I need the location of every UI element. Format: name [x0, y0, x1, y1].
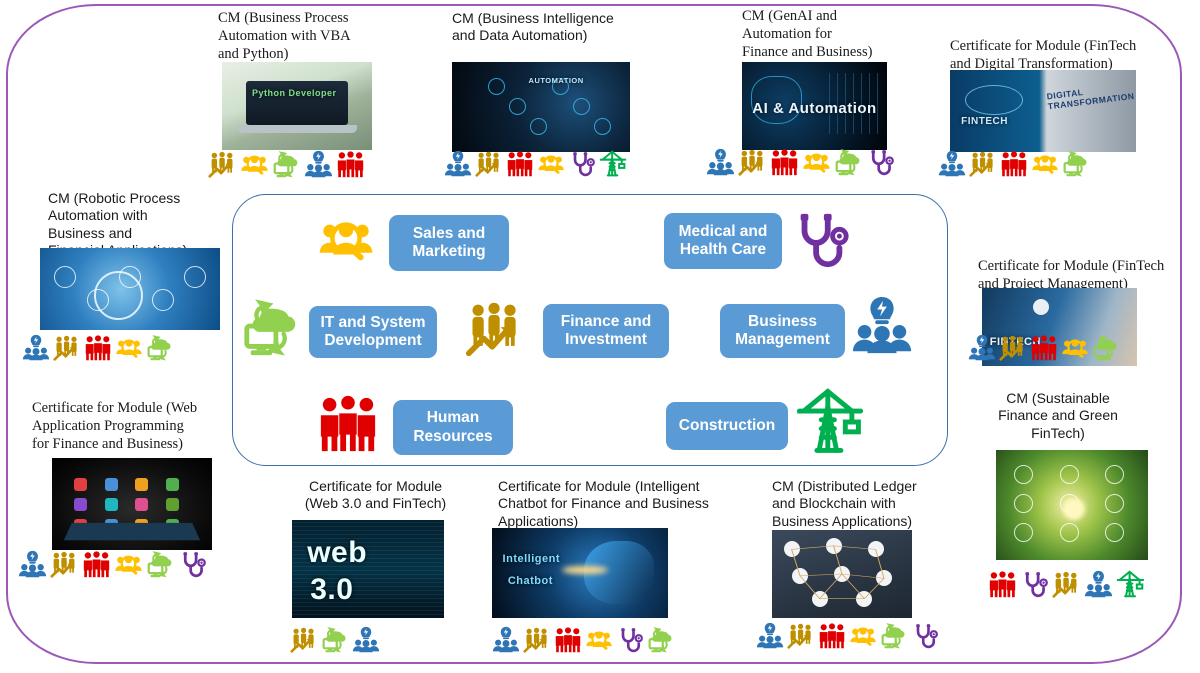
module-title-business-intelligence: CM (Business Intelligence and Data Autom…: [452, 10, 642, 45]
module-thumbnail-web-application-programming: [52, 458, 212, 550]
module-domain-icons-intelligent-chatbot: [492, 626, 675, 654]
module-title-intelligent-chatbot: Certificate for Module (Intelligent Chat…: [498, 478, 718, 530]
stethoscope-icon: [866, 148, 895, 177]
cloud-computer-icon: [834, 148, 863, 177]
module-domain-icons-sustainable-finance-green-fintech: [988, 570, 1145, 599]
business-management-icon: [18, 550, 47, 579]
human-resources-icon: [84, 334, 112, 362]
module-thumbnail-distributed-ledger-blockchain: [772, 530, 912, 618]
module-domain-icons-web3-fintech: [290, 626, 380, 654]
cloud-computer-icon: [1092, 334, 1120, 362]
cloud-computer-icon: [647, 626, 675, 654]
finance-growth-icon: [787, 622, 815, 650]
finance-growth-icon: [1052, 570, 1081, 599]
module-domain-icons-distributed-ledger-blockchain: [756, 622, 939, 650]
domain-pill-business-management[interactable]: Business Management: [720, 304, 845, 358]
business-management-icon: [1084, 570, 1113, 599]
sales-marketing-icon: [537, 150, 565, 178]
finance-growth-icon: [208, 150, 237, 179]
business-management-icon: [492, 626, 520, 654]
human-resources-icon: [770, 148, 799, 177]
module-thumbnail-sustainable-finance-green-fintech: [996, 450, 1148, 560]
human-resources-icon: [554, 626, 582, 654]
finance-growth-icon: [523, 626, 551, 654]
finance-growth-icon: [738, 148, 767, 177]
business-management-icon: [352, 626, 380, 654]
cloud-computer-icon: [272, 150, 301, 179]
human-resources-icon: [1000, 150, 1028, 178]
domain-pill-human-resources[interactable]: Human Resources: [393, 400, 513, 455]
stethoscope-icon: [789, 209, 851, 271]
module-domain-icons-business-intelligence: [444, 150, 627, 178]
finance-growth-icon: [475, 150, 503, 178]
domain-pill-sales-marketing[interactable]: Sales and Marketing: [389, 215, 509, 271]
module-domain-icons-web-application-programming: [18, 550, 207, 579]
cloud-computer-icon: [146, 334, 174, 362]
module-thumbnail-robotic-process-automation: [40, 248, 220, 330]
business-management-icon: [756, 622, 784, 650]
module-domain-icons-robotic-process-automation: [22, 334, 174, 362]
cloud-computer-icon: [880, 622, 908, 650]
cloud-computer-icon: [321, 626, 349, 654]
business-management-icon: [938, 150, 966, 178]
module-thumbnail-business-intelligence: AUTOMATION: [452, 62, 630, 152]
business-management-icon: [304, 150, 333, 179]
center-domains-panel: Sales and Marketing Medical and Health C…: [232, 194, 948, 466]
business-management-icon: [22, 334, 50, 362]
construction-crane-icon: [795, 387, 865, 457]
domain-pill-medical-health-care[interactable]: Medical and Health Care: [664, 213, 782, 269]
business-management-icon: [851, 295, 913, 357]
finance-growth-icon: [50, 550, 79, 579]
sales-marketing-icon: [115, 334, 143, 362]
cloud-computer-icon: [146, 550, 175, 579]
sales-marketing-icon: [1031, 150, 1059, 178]
module-title-business-process-automation: CM (Business Process Automation with VBA…: [218, 10, 378, 64]
domain-pill-it-system-development[interactable]: IT and System Development: [309, 306, 437, 358]
stethoscope-icon: [616, 626, 644, 654]
module-title-fintech-digital-transformation: Certificate for Module (FinTech and Digi…: [950, 38, 1165, 74]
business-management-icon: [706, 148, 735, 177]
stethoscope-icon: [911, 622, 939, 650]
module-thumbnail-business-process-automation: Python Developer: [222, 62, 372, 150]
module-title-web3-fintech: Certificate for Module (Web 3.0 and FinT…: [288, 478, 463, 513]
human-resources-icon: [317, 393, 379, 455]
cloud-computer-icon: [1062, 150, 1090, 178]
construction-crane-icon: [599, 150, 627, 178]
finance-growth-icon: [999, 334, 1027, 362]
module-domain-icons-business-process-automation: [208, 150, 365, 179]
module-thumbnail-fintech-digital-transformation: FINTECHDIGITAL TRANSFORMATION: [950, 70, 1136, 152]
sales-marketing-icon: [240, 150, 269, 179]
finance-growth-icon: [53, 334, 81, 362]
sales-marketing-icon: [585, 626, 613, 654]
sales-marketing-icon: [1061, 334, 1089, 362]
module-domain-icons-genai-automation: [706, 148, 895, 177]
human-resources-icon: [818, 622, 846, 650]
domain-pill-construction[interactable]: Construction: [666, 402, 788, 450]
module-domain-icons-fintech-project-management: [968, 334, 1120, 362]
construction-crane-icon: [1116, 570, 1145, 599]
human-resources-icon: [988, 570, 1017, 599]
module-thumbnail-genai-automation: AI & Automation: [742, 62, 887, 150]
module-title-sustainable-finance-green-fintech: CM (Sustainable Finance and Green FinTec…: [968, 390, 1148, 442]
sales-marketing-icon: [802, 148, 831, 177]
business-management-icon: [968, 334, 996, 362]
stethoscope-icon: [568, 150, 596, 178]
human-resources-icon: [336, 150, 365, 179]
sales-marketing-icon: [317, 211, 375, 269]
human-resources-icon: [506, 150, 534, 178]
module-thumbnail-web3-fintech: web3.0: [292, 520, 444, 618]
domain-pill-finance-investment[interactable]: Finance and Investment: [543, 304, 669, 358]
stethoscope-icon: [1020, 570, 1049, 599]
module-title-distributed-ledger-blockchain: CM (Distributed Ledger and Blockchain wi…: [772, 478, 952, 530]
module-domain-icons-fintech-digital-transformation: [938, 150, 1090, 178]
finance-growth-icon: [465, 299, 525, 359]
human-resources-icon: [1030, 334, 1058, 362]
business-management-icon: [444, 150, 472, 178]
cloud-computer-icon: [241, 297, 303, 359]
sales-marketing-icon: [114, 550, 143, 579]
module-title-web-application-programming: Certificate for Module (Web Application …: [32, 400, 227, 454]
module-thumbnail-intelligent-chatbot: IntelligentChatbot: [492, 528, 668, 618]
module-title-genai-automation: CM (GenAI and Automation for Finance and…: [742, 8, 912, 62]
finance-growth-icon: [290, 626, 318, 654]
sales-marketing-icon: [849, 622, 877, 650]
finance-growth-icon: [969, 150, 997, 178]
human-resources-icon: [82, 550, 111, 579]
stethoscope-icon: [178, 550, 207, 579]
